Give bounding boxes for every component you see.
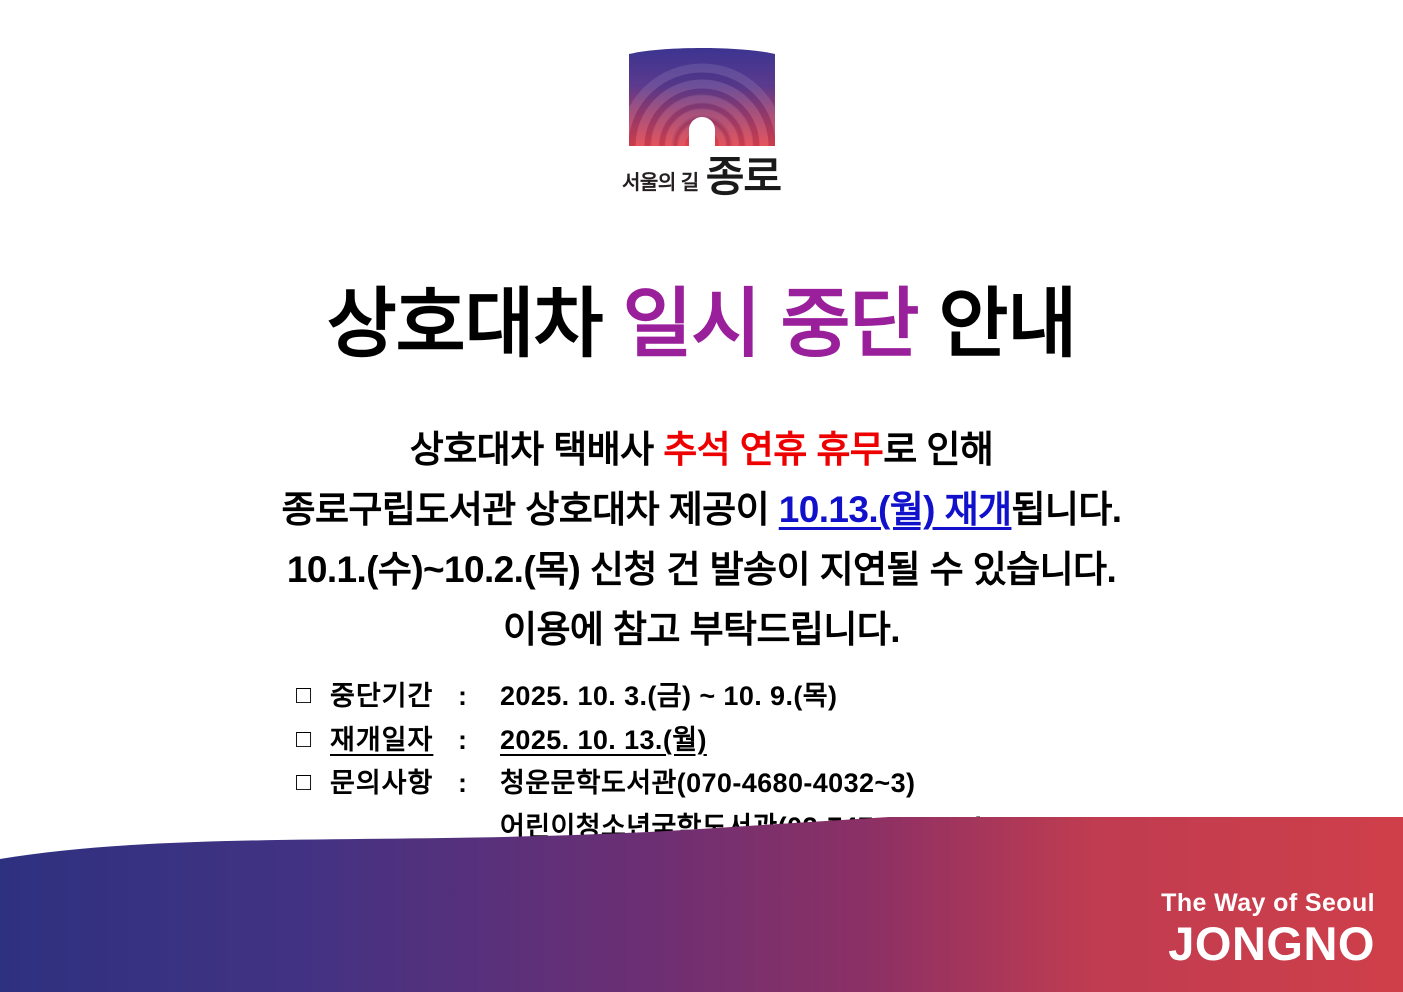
notice-line-4: 이용에 참고 부탁드립니다. (0, 600, 1403, 660)
notice-line-1-a: 상호대차 택배사 (410, 429, 663, 470)
brand-name: JONGNO (1161, 919, 1375, 968)
notice-body: 상호대차 택배사 추석 연휴 휴무로 인해 종로구립도서관 상호대차 제공이 1… (0, 420, 1403, 660)
jongno-logo: 서울의 길 종로 (0, 46, 1403, 198)
detail-label-resume-date: 재개일자 (330, 719, 458, 763)
notice-line-2-a: 종로구립도서관 상호대차 제공이 (282, 489, 779, 530)
detail-label-suspension-period: 중단기간 (330, 675, 458, 719)
detail-value-suspension-period: 2025. 10. 3.(금) ~ 10. 9.(목) (500, 675, 837, 719)
logo-subtitle: 서울의 길 (622, 173, 699, 198)
detail-row-suspension-period: □ 중단기간 : 2025. 10. 3.(금) ~ 10. 9.(목) (296, 675, 986, 719)
square-bullet-icon: □ (296, 675, 330, 716)
detail-value-resume-date: 2025. 10. 13.(월) (500, 719, 707, 763)
page-title: 상호대차 일시 중단 안내 (0, 262, 1403, 372)
brand-tagline: The Way of Seoul (1161, 890, 1375, 916)
jongno-wordmark: 서울의 길 종로 (622, 156, 781, 198)
detail-row-contact: □ 문의사항 : 청운문학도서관(070-4680-4032~3) (296, 762, 986, 806)
notice-line-2-highlight: 10.13.(월) 재개 (779, 489, 1012, 530)
detail-label-contact: 문의사항 (330, 762, 458, 806)
notice-line-2-b: 됩니다. (1011, 489, 1121, 530)
notice-line-1: 상호대차 택배사 추석 연휴 휴무로 인해 (0, 420, 1403, 480)
detail-colon-1: : (458, 675, 500, 719)
detail-row-resume-date: □ 재개일자 : 2025. 10. 13.(월) (296, 719, 986, 763)
poster-canvas: 서울의 길 종로 상호대차 일시 중단 안내 상호대차 택배사 추석 연휴 휴무… (0, 0, 1403, 992)
notice-line-1-b: 로 인해 (883, 429, 993, 470)
detail-colon-3: : (458, 762, 500, 806)
detail-colon-2: : (458, 719, 500, 763)
notice-line-2: 종로구립도서관 상호대차 제공이 10.13.(월) 재개됩니다. (0, 480, 1403, 540)
title-accent: 일시 중단 (623, 282, 919, 367)
notice-line-3: 10.1.(수)~10.2.(목) 신청 건 발송이 지연될 수 있습니다. (0, 540, 1403, 600)
title-part-1: 상호대차 (327, 282, 623, 367)
footer-brand: The Way of Seoul JONGNO (1161, 890, 1375, 968)
square-bullet-icon: □ (296, 719, 330, 760)
logo-title: 종로 (706, 156, 781, 198)
notice-line-1-highlight: 추석 연휴 휴무 (663, 429, 883, 470)
title-part-2: 안내 (918, 282, 1076, 367)
square-bullet-icon: □ (296, 762, 330, 803)
jongno-gate-logo-icon (623, 46, 781, 150)
detail-value-contact-1: 청운문학도서관(070-4680-4032~3) (500, 762, 915, 806)
